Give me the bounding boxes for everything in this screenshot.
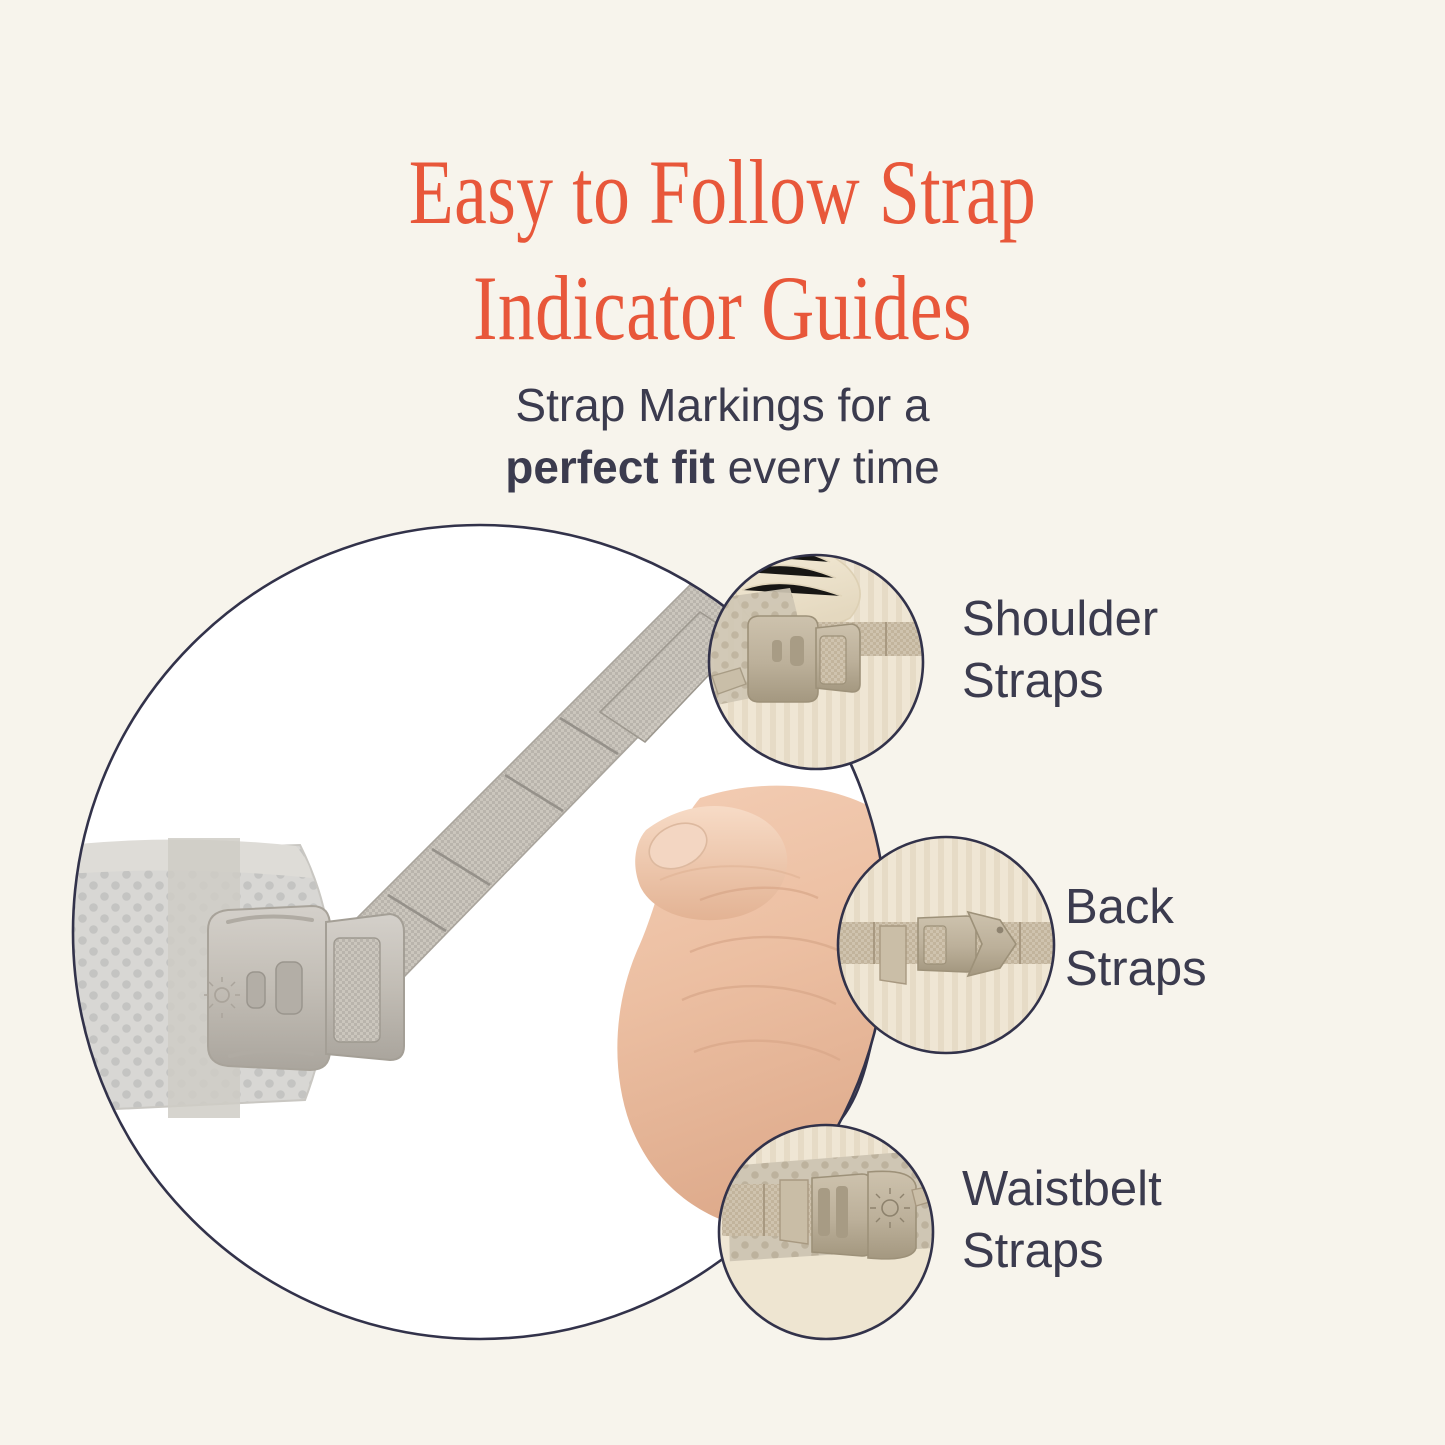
detail-circle-waistbelt [719,1125,936,1345]
shoulder-buckle-icon [748,616,860,702]
callout-label-waistbelt-line-2: Straps [962,1220,1162,1282]
callout-label-shoulder-line-1: Shoulder [962,588,1158,650]
detail-circle-shoulder [704,540,932,769]
callout-label-shoulder-line-2: Straps [962,650,1158,712]
callout-label-back: Back Straps [1065,876,1207,1000]
callout-label-back-line-2: Straps [1065,938,1207,1000]
callout-label-back-line-1: Back [1065,876,1207,938]
infographic-canvas: Easy to Follow Strap Indicator Guides St… [0,0,1445,1445]
callout-label-shoulder: Shoulder Straps [962,588,1158,712]
waistbelt-buckle-icon [812,1171,916,1259]
callout-label-waistbelt-line-1: Waistbelt [962,1158,1162,1220]
back-buckle-icon [918,912,1016,976]
strap-guide-diagram [0,0,1445,1445]
waistbelt-buckle [204,906,404,1070]
detail-circle-back [838,837,1054,1053]
callout-label-waistbelt: Waistbelt Straps [962,1158,1162,1282]
